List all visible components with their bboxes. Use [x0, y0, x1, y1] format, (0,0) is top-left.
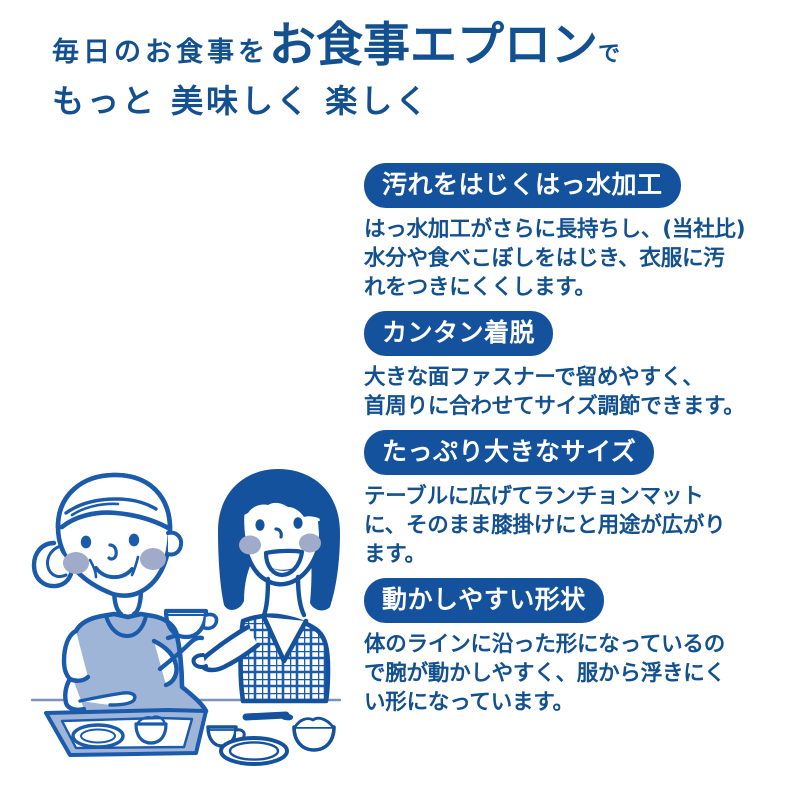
held-teacup-handle	[205, 614, 217, 628]
headline-emphasis: お食事エプロン	[269, 18, 598, 73]
young-eye-left	[255, 519, 264, 531]
illustration	[10, 455, 360, 795]
table-plate-rim	[230, 742, 278, 759]
headline: 毎日のお食事をお食事エプロンで もっと 美味しく 楽しく	[52, 18, 782, 126]
young-cheek-right	[299, 534, 321, 553]
table-rice-mound	[295, 718, 333, 727]
chopsticks-tip	[282, 714, 293, 721]
elderly-eye-left	[81, 536, 91, 549]
feature-water-repellent: 汚れをはじくはっ水加工 はっ水加工がさらに長持ちし、(当社比) 水分や食べこぼし…	[364, 163, 784, 302]
feature-easy-wear: カンタン着脱 大きな面ファスナーで留めやすく、 首周りに合わせてサイズ調節できま…	[364, 311, 784, 421]
feature-list: 汚れをはじくはっ水加工 はっ水加工がさらに長持ちし、(当社比) 水分や食べこぼし…	[364, 163, 784, 717]
feature-body-water-repellent: はっ水加工がさらに長持ちし、(当社比) 水分や食べこぼしをはじき、衣服に汚 れを…	[364, 215, 784, 302]
table-rice-bowl	[294, 727, 334, 750]
elderly-cheek-right	[140, 548, 166, 570]
elderly-eye-right	[129, 534, 139, 547]
headline-prefix: 毎日のお食事を	[52, 37, 269, 68]
feature-badge-water-repellent: 汚れをはじくはっ水加工	[364, 163, 681, 208]
young-eye-right	[293, 517, 302, 529]
feature-badge-easy-movement: 動かしやすい形状	[364, 578, 604, 623]
chopsticks	[246, 715, 286, 717]
mat-rice-bowl	[136, 724, 166, 743]
feature-body-large-size: テーブルに広げてランチョンマット に、そのまま膝掛けにと用途が広がり ます。	[364, 482, 784, 569]
headline-subtitle: もっと 美味しく 楽しく	[52, 82, 430, 120]
illustration-svg	[10, 455, 360, 795]
feature-large-size: たっぷり大きなサイズ テーブルに広げてランチョンマット に、そのまま膝掛けにと用…	[364, 430, 784, 569]
feature-body-easy-wear: 大きな面ファスナーで留めやすく、 首周りに合わせてサイズ調節できます。	[364, 363, 784, 421]
headline-suffix: で	[598, 42, 620, 67]
elderly-ear	[168, 533, 181, 555]
young-cheek-left	[239, 536, 261, 555]
feature-badge-large-size: たっぷり大きなサイズ	[364, 430, 654, 475]
feature-body-easy-movement: 体のラインに沿った形になっているの で腕が動かしやすく、服から浮きにく い形にな…	[364, 630, 784, 717]
feature-badge-easy-wear: カンタン着脱	[364, 311, 553, 356]
elderly-cheek-left	[63, 552, 89, 574]
infographic-page: 毎日のお食事をお食事エプロンで もっと 美味しく 楽しく 汚れをはじくはっ水加工…	[0, 0, 800, 800]
headline-line-1: 毎日のお食事をお食事エプロンで	[52, 18, 782, 74]
headline-line-2: もっと 美味しく 楽しく	[52, 76, 782, 126]
feature-easy-movement: 動かしやすい形状 体のラインに沿った形になっているの で腕が動かしやすく、服から…	[364, 578, 784, 717]
